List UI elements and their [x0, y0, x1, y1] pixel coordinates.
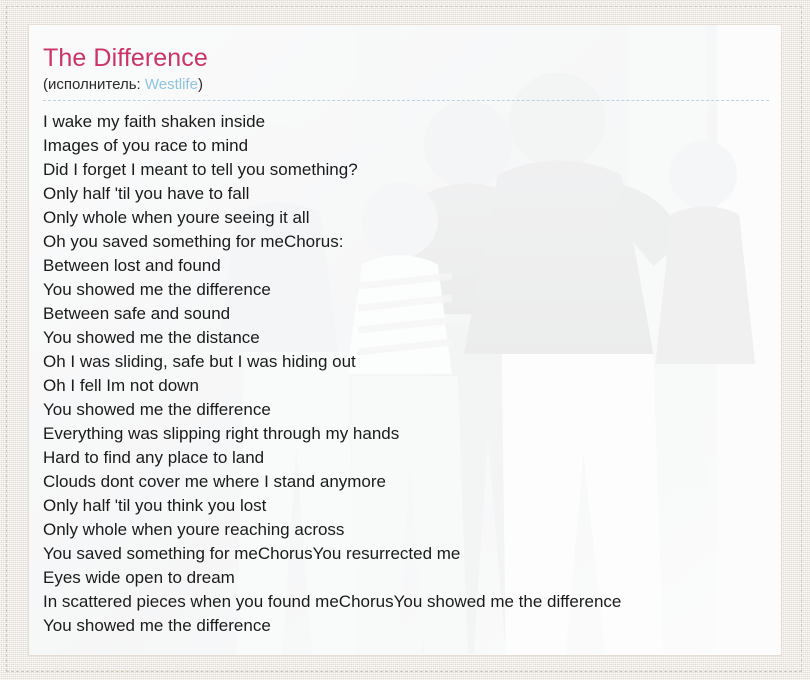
lyric-line: Only whole when youre reaching across — [43, 518, 781, 542]
artist-prefix-label: (исполнитель: — [43, 76, 145, 93]
lyric-line: Hard to find any place to land — [43, 446, 781, 470]
lyric-line: Oh you saved something for meChorus: — [43, 230, 781, 254]
lyrics-text: I wake my faith shaken inside Images of … — [43, 110, 781, 638]
page-title: The Difference — [43, 43, 781, 73]
lyric-line: Only whole when youre seeing it all — [43, 206, 781, 230]
artist-suffix-label: ) — [198, 76, 203, 93]
lyrics-content-panel: The Difference (исполнитель: Westlife) I… — [28, 24, 782, 656]
lyric-line: Eyes wide open to dream — [43, 566, 781, 590]
lyric-line: Clouds dont cover me where I stand anymo… — [43, 470, 781, 494]
lyric-line: You showed me the difference — [43, 398, 781, 422]
lyric-line: Did I forget I meant to tell you somethi… — [43, 158, 781, 182]
lyric-line: You showed me the distance — [43, 326, 781, 350]
artist-credit: (исполнитель: Westlife) — [43, 75, 781, 100]
page-background: The Difference (исполнитель: Westlife) I… — [0, 0, 810, 680]
artist-link[interactable]: Westlife — [145, 76, 198, 93]
lyric-line: Images of you race to mind — [43, 134, 781, 158]
lyric-line: Between lost and found — [43, 254, 781, 278]
lyric-line: Oh I fell Im not down — [43, 374, 781, 398]
lyric-line: Everything was slipping right through my… — [43, 422, 781, 446]
lyric-line: I wake my faith shaken inside — [43, 110, 781, 134]
lyric-line: Between safe and sound — [43, 302, 781, 326]
lyric-line: Only half 'til you think you lost — [43, 494, 781, 518]
lyric-line: Only half 'til you have to fall — [43, 182, 781, 206]
lyric-line: You showed me the difference — [43, 278, 781, 302]
lyric-line: You showed me the difference — [43, 614, 781, 638]
lyric-line: Oh I was sliding, safe but I was hiding … — [43, 350, 781, 374]
header-divider — [43, 100, 769, 101]
lyric-line: In scattered pieces when you found meCho… — [43, 590, 781, 614]
lyric-line: You saved something for meChorusYou resu… — [43, 542, 781, 566]
